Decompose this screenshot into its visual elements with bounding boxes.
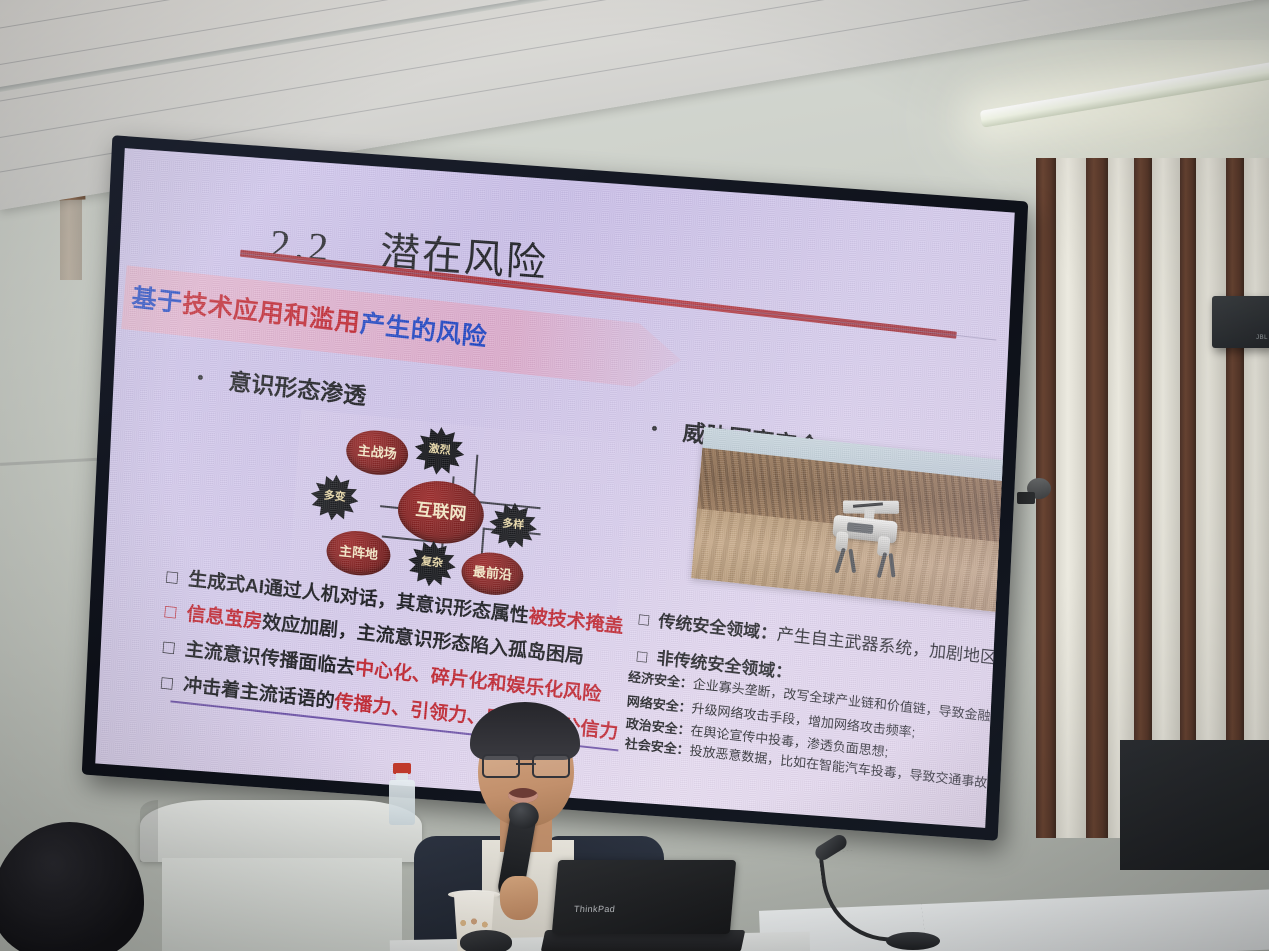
diagram-ellipse-2-label: 主阵地 bbox=[339, 544, 379, 562]
podium bbox=[140, 800, 422, 951]
left-item-3-seg-0: 冲击着主流话语的 bbox=[182, 675, 335, 712]
laptop[interactable]: ThinkPad bbox=[543, 860, 733, 951]
diagram-star-2: 多变 bbox=[309, 472, 360, 523]
robot-photo bbox=[691, 427, 1011, 612]
diagram-star-1: 激烈 bbox=[413, 424, 466, 477]
laptop-lid: ThinkPad bbox=[552, 860, 736, 934]
left-item-0-seg-1: 被技术掩盖 bbox=[528, 606, 624, 637]
robot-leg bbox=[889, 553, 896, 577]
checkbox-marker-icon: □ bbox=[162, 637, 175, 659]
podium-body bbox=[162, 858, 402, 951]
diagram-star-4-label: 复杂 bbox=[421, 557, 444, 571]
diagram-star-1-label: 激烈 bbox=[428, 444, 451, 458]
diagram-ellipse-1-label: 主战场 bbox=[357, 444, 397, 462]
speaker-brand-label: JBL bbox=[1256, 335, 1268, 341]
dark-cabinet bbox=[1120, 740, 1269, 870]
diagram-center-label: 互联网 bbox=[415, 501, 467, 524]
column-header-left-label: 意识形态渗透 bbox=[228, 368, 368, 409]
right-item-0-text: 产生自主武器系统，加剧地区紧张局势 bbox=[776, 625, 1015, 675]
checkbox-marker-icon: □ bbox=[160, 673, 173, 695]
bullet-dot-icon bbox=[198, 375, 203, 381]
connector-line bbox=[473, 455, 544, 510]
checkbox-marker-icon: □ bbox=[164, 601, 177, 623]
paper-cup-pattern bbox=[456, 915, 492, 931]
presenter-hand-holding-mic bbox=[500, 876, 538, 920]
column-header-left: 意识形态渗透 bbox=[197, 359, 368, 412]
wood-slat-wall bbox=[1032, 158, 1269, 838]
diagram-node-center: 互联网 bbox=[396, 477, 486, 547]
ceiling-camera bbox=[1017, 478, 1053, 504]
presenter-glasses bbox=[482, 754, 570, 774]
laptop-brand-label: ThinkPad bbox=[574, 904, 616, 914]
slide-title: 2.2 潜在风险 bbox=[269, 211, 549, 289]
robot-leg bbox=[849, 548, 857, 572]
bullet-dot-icon bbox=[652, 426, 657, 432]
desk-microphone bbox=[800, 840, 940, 950]
wall-speaker: JBL bbox=[1212, 296, 1269, 348]
wall-pillar-left-lower bbox=[60, 190, 82, 280]
checkbox-marker-icon: □ bbox=[636, 647, 648, 667]
diagram-ellipse-3-label: 最前沿 bbox=[472, 565, 512, 583]
podium-top bbox=[140, 800, 422, 862]
computer-mouse[interactable] bbox=[460, 930, 512, 951]
checkbox-marker-icon: □ bbox=[638, 610, 650, 630]
quadruped-robot bbox=[815, 495, 913, 583]
subtitle-part1: 基于 bbox=[130, 284, 183, 318]
right-sub-0-label: 经济安全： bbox=[628, 669, 694, 691]
left-item-1-seg-0: 信息茧房 bbox=[186, 604, 263, 633]
microphone-base bbox=[886, 932, 940, 950]
right-item-0-label: 传统安全领域： bbox=[658, 612, 778, 644]
presenter-mouth bbox=[508, 788, 538, 803]
presenter-hair bbox=[470, 702, 580, 760]
lecture-hall-photo: JBL 2.2 潜在风险 基于技术应用和滥用产生的风险 bbox=[0, 0, 1269, 951]
diagram-star-3-label: 多样 bbox=[502, 519, 525, 533]
robot-leg bbox=[835, 547, 846, 573]
diagram-star-2-label: 多变 bbox=[323, 491, 346, 505]
robot-leg bbox=[877, 552, 888, 578]
checkbox-marker-icon: □ bbox=[165, 567, 178, 589]
